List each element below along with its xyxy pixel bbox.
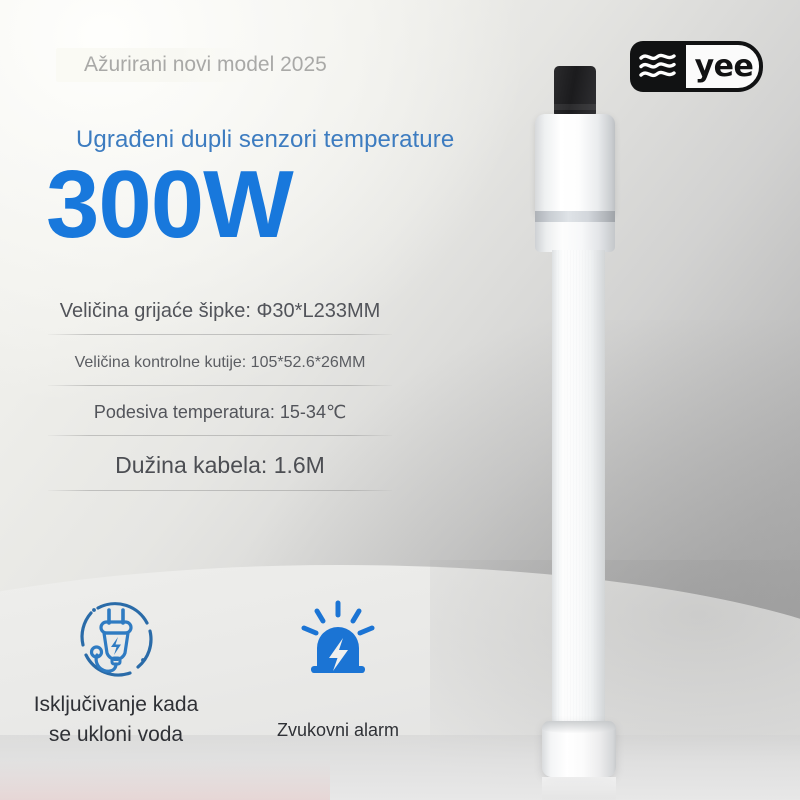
- product-collar: [535, 222, 615, 252]
- product-rod-highlight: [558, 250, 568, 730]
- spec-divider: [48, 435, 392, 436]
- product-image: [524, 66, 684, 766]
- feature-icon-wrap: [10, 596, 222, 682]
- wattage-headline: 300W: [46, 157, 293, 253]
- spec-text: Veličina kontrolne kutije: 105*52.6*26MM: [48, 345, 392, 381]
- logo-mark: [630, 41, 686, 92]
- specification-list: Veličina grijaće šipke: Φ30*L233MM Velič…: [48, 292, 392, 491]
- feature-icon-wrap: [232, 596, 444, 682]
- feature-label: Isključivanje kada se ukloni voda: [10, 690, 222, 750]
- spec-divider: [48, 385, 392, 386]
- brand-logo: yee: [630, 41, 763, 92]
- alarm-siren-bolt-icon: [299, 600, 377, 678]
- power-plug-bolt-icon: [74, 597, 158, 681]
- spec-text: Dužina kabela: 1.6M: [48, 444, 392, 486]
- spec-row: Dužina kabela: 1.6M: [48, 444, 392, 491]
- feature-label: Zvukovni alarm: [232, 690, 444, 744]
- eyebrow-banner: Ažurirani novi model 2025: [56, 48, 416, 82]
- wave-lines-icon: [639, 52, 677, 81]
- spec-spacer: [48, 436, 392, 444]
- product-control-head: [535, 114, 615, 214]
- spec-row: Podesiva temperatura: 15-34℃: [48, 394, 392, 436]
- spec-divider: [48, 334, 392, 335]
- spec-spacer: [48, 335, 392, 345]
- floor-warm-tint: [0, 760, 330, 800]
- product-reflection: [542, 777, 616, 800]
- product-cap-notch: [554, 104, 596, 110]
- spec-text: Podesiva temperatura: 15-34℃: [48, 394, 392, 431]
- subheadline: Ugrađeni dupli senzori temperature: [76, 126, 454, 154]
- feature-audible-alarm: Zvukovni alarm: [232, 596, 444, 744]
- spec-text: Veličina grijaće šipke: Φ30*L233MM: [48, 292, 392, 330]
- spec-row: Veličina kontrolne kutije: 105*52.6*26MM: [48, 345, 392, 386]
- spec-row: Veličina grijaće šipke: Φ30*L233MM: [48, 292, 392, 335]
- spec-divider: [48, 490, 392, 491]
- product-base-lip: [542, 721, 616, 733]
- feature-auto-power-off: Isključivanje kada se ukloni voda: [10, 596, 222, 750]
- eyebrow-text: Ažurirani novi model 2025: [84, 48, 327, 82]
- logo-wordmark: yee: [688, 47, 760, 86]
- promo-image: yee Ažurirani novi model 2025 Ugrađeni d…: [0, 0, 800, 800]
- spec-spacer: [48, 386, 392, 394]
